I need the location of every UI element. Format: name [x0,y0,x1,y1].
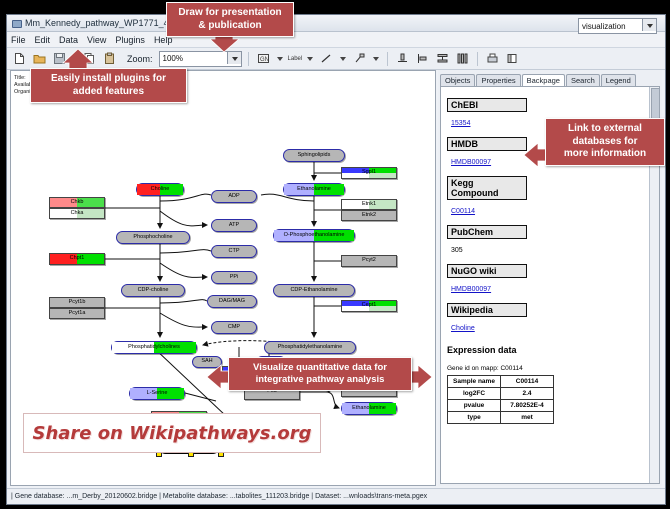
chevron-down-icon[interactable] [275,51,285,66]
row-label: log2FC [448,388,501,400]
node-label: ATP [229,223,239,229]
node-label: DAG/MAG [219,299,245,305]
metabolite-node-ethanolamine-right[interactable]: Ethanolamine [341,402,397,415]
db-section-pubchem: PubChem 305 [447,225,649,257]
annotation-draw-line2: & publication [198,20,261,31]
row-value: met [501,412,554,424]
node-label: CDP-choline [138,288,169,294]
table-row: pvalue 7.80252E-4 [448,400,554,412]
node-label: Ethanolamine [297,187,331,193]
title-bar: Mm_Kennedy_pathway_WP1771_45176.gpml [7,15,665,32]
row-label: pvalue [448,400,501,412]
share-callout-text: Share on Wikipathways.org [33,423,312,444]
metabolite-node-ppi[interactable]: PPi [211,271,257,284]
gene-node-chka[interactable]: Chka [49,208,105,219]
side-panel-tabs: Objects Properties Backpage Search Legen… [440,72,660,87]
node-label: L-Serine [147,391,168,397]
tab-legend[interactable]: Legend [601,74,636,86]
annotation-draw-line1: Draw for presentation [178,7,281,18]
metabolite-node-ctp[interactable]: CTP [211,245,257,258]
menu-item-edit[interactable]: Edit [35,35,51,45]
expression-table: Sample name C00114 log2FC 2.4 pvalue 7.8… [447,375,554,424]
node-label: Chpt1 [70,256,85,262]
metabolite-node-cdp-choline[interactable]: CDP-choline [121,284,185,297]
node-label: Choline [151,187,170,193]
menu-item-plugins[interactable]: Plugins [115,35,145,45]
tab-search[interactable]: Search [566,74,600,86]
gene-node-chkb[interactable]: Chkb [49,197,105,208]
row-value: 7.80252E-4 [501,400,554,412]
node-label: Etnk2 [362,213,376,219]
open-folder-icon[interactable] [31,50,48,67]
node-label: Etnk1 [362,202,376,208]
row-value: 2.4 [501,388,554,400]
new-file-icon[interactable] [11,50,28,67]
menu-item-data[interactable]: Data [59,35,78,45]
line-icon[interactable] [318,50,335,67]
toolbar-separator [248,52,249,66]
zoom-combobox[interactable]: 100% [159,51,242,67]
gene-node-etnk2[interactable]: Etnk2 [341,210,397,221]
distribute-icon[interactable] [454,50,471,67]
print-icon[interactable] [484,50,501,67]
screenshot-root: Mm_Kennedy_pathway_WP1771_45176.gpml Fil… [0,0,670,509]
annotation-draw: Draw for presentation & publication [166,2,294,37]
db-name-nugo: NuGO wiki [447,264,527,278]
chevron-down-icon[interactable] [338,51,348,66]
db-section-kegg: Kegg Compound C00114 [447,176,649,218]
stack-icon[interactable] [434,50,451,67]
db-value-pubchem: 305 [451,247,463,254]
db-name-kegg: Kegg Compound [447,176,527,200]
metabolite-node-choline-top[interactable]: Choline [136,183,184,196]
visualization-value: visualization [582,22,626,31]
annotation-link-line1: Link to external [568,123,642,134]
table-row: log2FC 2.4 [448,388,554,400]
table-row: Sample name C00114 [448,376,554,388]
node-label: Pcyt2 [362,258,376,264]
metabolite-node-dagmag[interactable]: DAG/MAG [207,295,257,308]
app-icon [11,18,21,28]
node-label: O-Phosphoethanolamine [284,233,345,239]
node-label: Sphingolipids [298,153,331,159]
db-section-wikipedia: Wikipedia Choline [447,303,649,335]
tab-properties[interactable]: Properties [476,74,520,86]
expression-data-heading: Expression data [447,345,649,355]
anchor-icon[interactable] [351,50,368,67]
gene-node-sgpl1[interactable]: Sgpl1 [341,167,397,179]
label-tool-label[interactable]: Label [288,56,303,62]
data-node-icon[interactable]: GN [255,50,272,67]
db-name-pubchem: PubChem [447,225,527,239]
db-name-hmdb: HMDB [447,137,527,151]
annotation-plugins-line2: added features [73,86,144,97]
node-label: Chkb [71,200,84,206]
gene-node-chpt1[interactable]: Chpt1 [49,253,105,265]
toolbar: Zoom: 100% GN Label visualization [7,48,665,70]
annotation-link-line3: more information [564,148,646,159]
db-link-nugo[interactable]: HMDB00097 [451,286,491,293]
db-link-hmdb[interactable]: HMDB00097 [451,159,491,166]
db-name-chebi: ChEBI [447,98,527,112]
metabolite-node-l-serine-left[interactable]: L-Serine [129,387,185,400]
annotation-link: Link to external databases for more info… [545,118,665,166]
db-name-wikipedia: Wikipedia [447,303,527,317]
share-callout: Share on Wikipathways.org [23,413,321,453]
align-top-icon[interactable] [394,50,411,67]
menu-item-file[interactable]: File [11,35,26,45]
node-label: Phosphatidylethanolamine [278,345,343,351]
node-label: Cept1 [362,303,377,309]
gene-node-pcyt2[interactable]: Pcyt2 [341,255,397,267]
table-row: type met [448,412,554,424]
gene-node-pcyt1a[interactable]: Pcyt1a [49,308,105,319]
gene-node-pcyt1b[interactable]: Pcyt1b [49,297,105,308]
annotation-link-line2: databases for [572,136,637,147]
db-link-kegg[interactable]: C00114 [451,208,475,215]
status-bar-text: | Gene database: ...m_Derby_20120602.bri… [11,493,427,500]
annotation-visualize-line2: integrative pathway analysis [256,374,385,385]
annotation-plugins-line1: Easily install plugins for [51,73,166,84]
row-label: Sample name [448,376,501,388]
node-label: Pcyt1a [69,311,86,317]
gene-node-etnk1[interactable]: Etnk1 [341,199,397,210]
chevron-down-icon[interactable] [305,51,315,66]
metabolite-node-phosphatidylcholines[interactable]: Phosphatidylcholines [111,341,197,354]
visualization-combobox[interactable]: visualization [578,18,657,34]
chevron-down-icon[interactable] [227,52,241,64]
row-label: type [448,412,501,424]
metabolite-node-cdp-ethanolamine[interactable]: CDP-Ethanolamine [273,284,355,297]
db-link-chebi[interactable]: 15354 [451,120,470,127]
metabolite-node-atp[interactable]: ATP [211,219,257,232]
annotation-visualize: Visualize quantitative data for integrat… [228,357,412,391]
metabolite-node-phosphocholine[interactable]: Phosphocholine [116,231,190,244]
gene-node-cept1[interactable]: Cept1 [341,300,397,312]
db-section-nugo: NuGO wiki HMDB00097 [447,264,649,296]
node-label: Phosphatidylcholines [128,345,180,351]
node-label: CTP [229,249,240,255]
metabolite-node-sphingolipids[interactable]: Sphingolipids [283,149,345,162]
node-label: Sgpl1 [362,170,376,176]
align-left-icon[interactable] [414,50,431,67]
node-label: Pcyt1b [69,300,86,306]
node-label: CDP-Ethanolamine [290,288,337,294]
db-link-wikipedia[interactable]: Choline [451,325,475,332]
metabolite-node-cmp[interactable]: CMP [211,321,257,334]
zoom-value: 100% [163,54,183,63]
row-value: C00114 [501,376,554,388]
node-label: CMP [228,325,240,331]
status-bar: | Gene database: ...m_Derby_20120602.bri… [7,488,665,504]
annotation-visualize-line1: Visualize quantitative data for [253,362,387,373]
node-label: Phosphocholine [133,235,172,241]
toolbar-separator [477,52,478,66]
chevron-down-icon[interactable] [642,19,656,31]
node-label: Chka [71,211,84,217]
node-label: Ethanolamine [352,406,386,412]
layout-icon[interactable] [504,50,521,67]
zoom-label: Zoom: [127,54,153,64]
svg-text:GN: GN [260,57,269,63]
metabolite-node-ethanolamine-top[interactable]: Ethanolamine [283,183,345,196]
metabolite-node-adp[interactable]: ADP [211,190,257,203]
chevron-down-icon[interactable] [371,51,381,66]
pathway-canvas[interactable]: Title: Availab Organi [10,70,436,486]
metabolite-node-o-phosphoethanolamine[interactable]: O-Phosphoethanolamine [273,229,355,242]
menu-bar: File Edit Data View Plugins Help [7,32,665,48]
node-label: PPi [230,275,239,281]
node-label: ADP [228,194,239,200]
gene-id-line: Gene id on mapp: C00114 [447,365,649,372]
metabolite-node-phosphatidylethanolamine[interactable]: Phosphatidylethanolamine [264,341,356,354]
paste-icon[interactable] [101,50,118,67]
menu-item-view[interactable]: View [87,35,106,45]
toolbar-separator [387,52,388,66]
annotation-plugins: Easily install plugins for added feature… [30,68,187,103]
tab-objects[interactable]: Objects [440,74,475,86]
